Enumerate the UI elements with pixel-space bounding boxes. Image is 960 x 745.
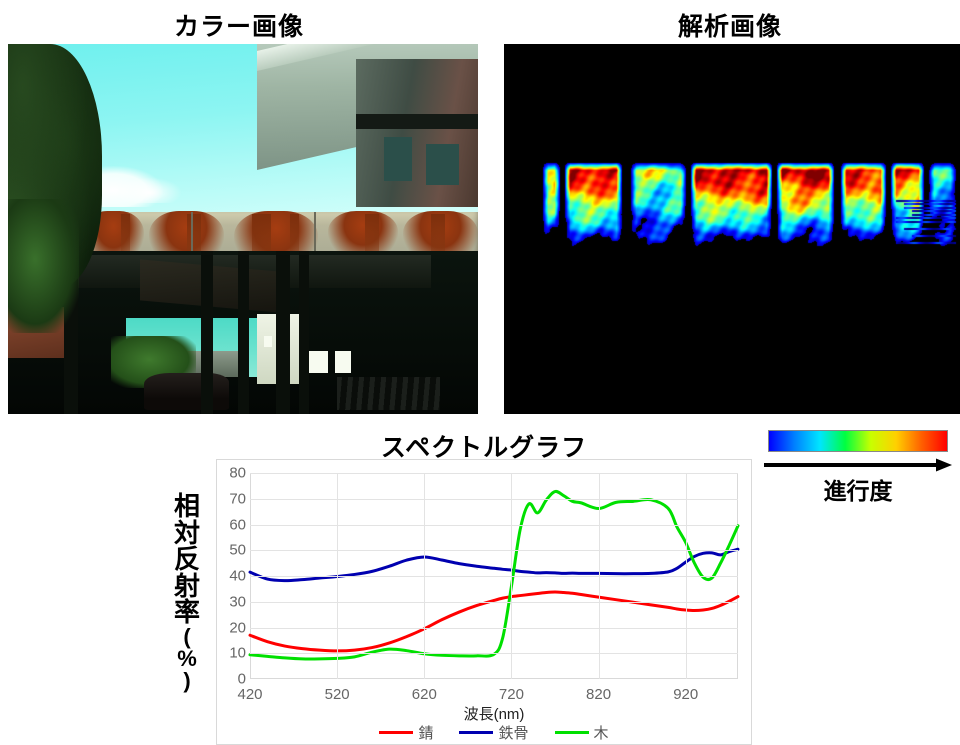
gridline-horizontal (250, 550, 738, 551)
plot-area (250, 473, 738, 679)
gridline-vertical (337, 473, 338, 679)
colorbar-label: 進行度 (762, 472, 954, 506)
white-building-window (309, 351, 328, 373)
legend-label: 鉄骨 (498, 722, 528, 743)
bicycle-rack (337, 377, 440, 410)
legend-swatch (379, 731, 413, 734)
building-right (356, 59, 478, 207)
white-building-window (335, 351, 351, 373)
gridline-horizontal (250, 576, 738, 577)
x-axis-tick: 620 (412, 686, 437, 703)
x-axis-tick: 720 (499, 686, 524, 703)
gridline-vertical (511, 473, 512, 679)
analysis-image-title: 解析画像 (500, 7, 960, 43)
progress-colorbar-group: 進行度 (762, 430, 954, 500)
legend-item-木[interactable]: 木 (555, 722, 609, 743)
gridline-horizontal (250, 499, 738, 500)
gridline-horizontal (250, 525, 738, 526)
y-axis-tick: 10 (206, 645, 246, 662)
gridline-horizontal (250, 628, 738, 629)
building-shadow-band (356, 114, 478, 129)
gridline-vertical (599, 473, 600, 679)
gridline-vertical (686, 473, 687, 679)
y-axis-tick: 80 (206, 465, 246, 482)
arrow-right-icon (764, 458, 952, 472)
building-window (426, 144, 459, 185)
legend-item-鉄骨[interactable]: 鉄骨 (459, 722, 528, 743)
support-column (299, 251, 308, 414)
gridline-horizontal (250, 653, 738, 654)
analysis-heatmap-image (504, 44, 960, 414)
legend-swatch (555, 731, 589, 734)
x-axis-tick: 420 (237, 686, 262, 703)
y-axis-tick-labels: 01020304050607080 (202, 473, 246, 679)
legend-swatch (459, 731, 493, 734)
color-image-title: カラー画像 (0, 7, 478, 43)
support-column (276, 251, 290, 414)
chart-legend: 錆鉄骨木 (250, 722, 738, 742)
support-column (201, 251, 213, 414)
x-axis-tick: 520 (325, 686, 350, 703)
gridline-horizontal (250, 473, 738, 474)
x-axis-tick: 820 (586, 686, 611, 703)
white-building-window (264, 336, 272, 347)
gridline-horizontal (250, 602, 738, 603)
foreground-tree-lower (8, 199, 79, 332)
y-axis-tick: 50 (206, 542, 246, 559)
parked-car (144, 373, 229, 410)
legend-item-錆[interactable]: 錆 (379, 722, 433, 743)
color-photograph (8, 44, 478, 414)
legend-label: 木 (594, 722, 609, 743)
y-axis-tick: 20 (206, 619, 246, 636)
y-axis-tick: 70 (206, 490, 246, 507)
cloud-shape-small (116, 177, 182, 203)
y-axis-tick: 40 (206, 568, 246, 585)
legend-label: 錆 (418, 722, 433, 743)
building-window (384, 137, 412, 181)
heatmap-canvas (504, 44, 960, 414)
gridline-vertical (424, 473, 425, 679)
heatmap-overlay (504, 44, 960, 414)
colorbar-gradient (768, 430, 948, 452)
x-axis-tick: 920 (673, 686, 698, 703)
y-axis-tick: 30 (206, 593, 246, 610)
y-axis-tick: 60 (206, 516, 246, 533)
support-column (238, 251, 248, 414)
y-axis-tick: 0 (206, 671, 246, 688)
